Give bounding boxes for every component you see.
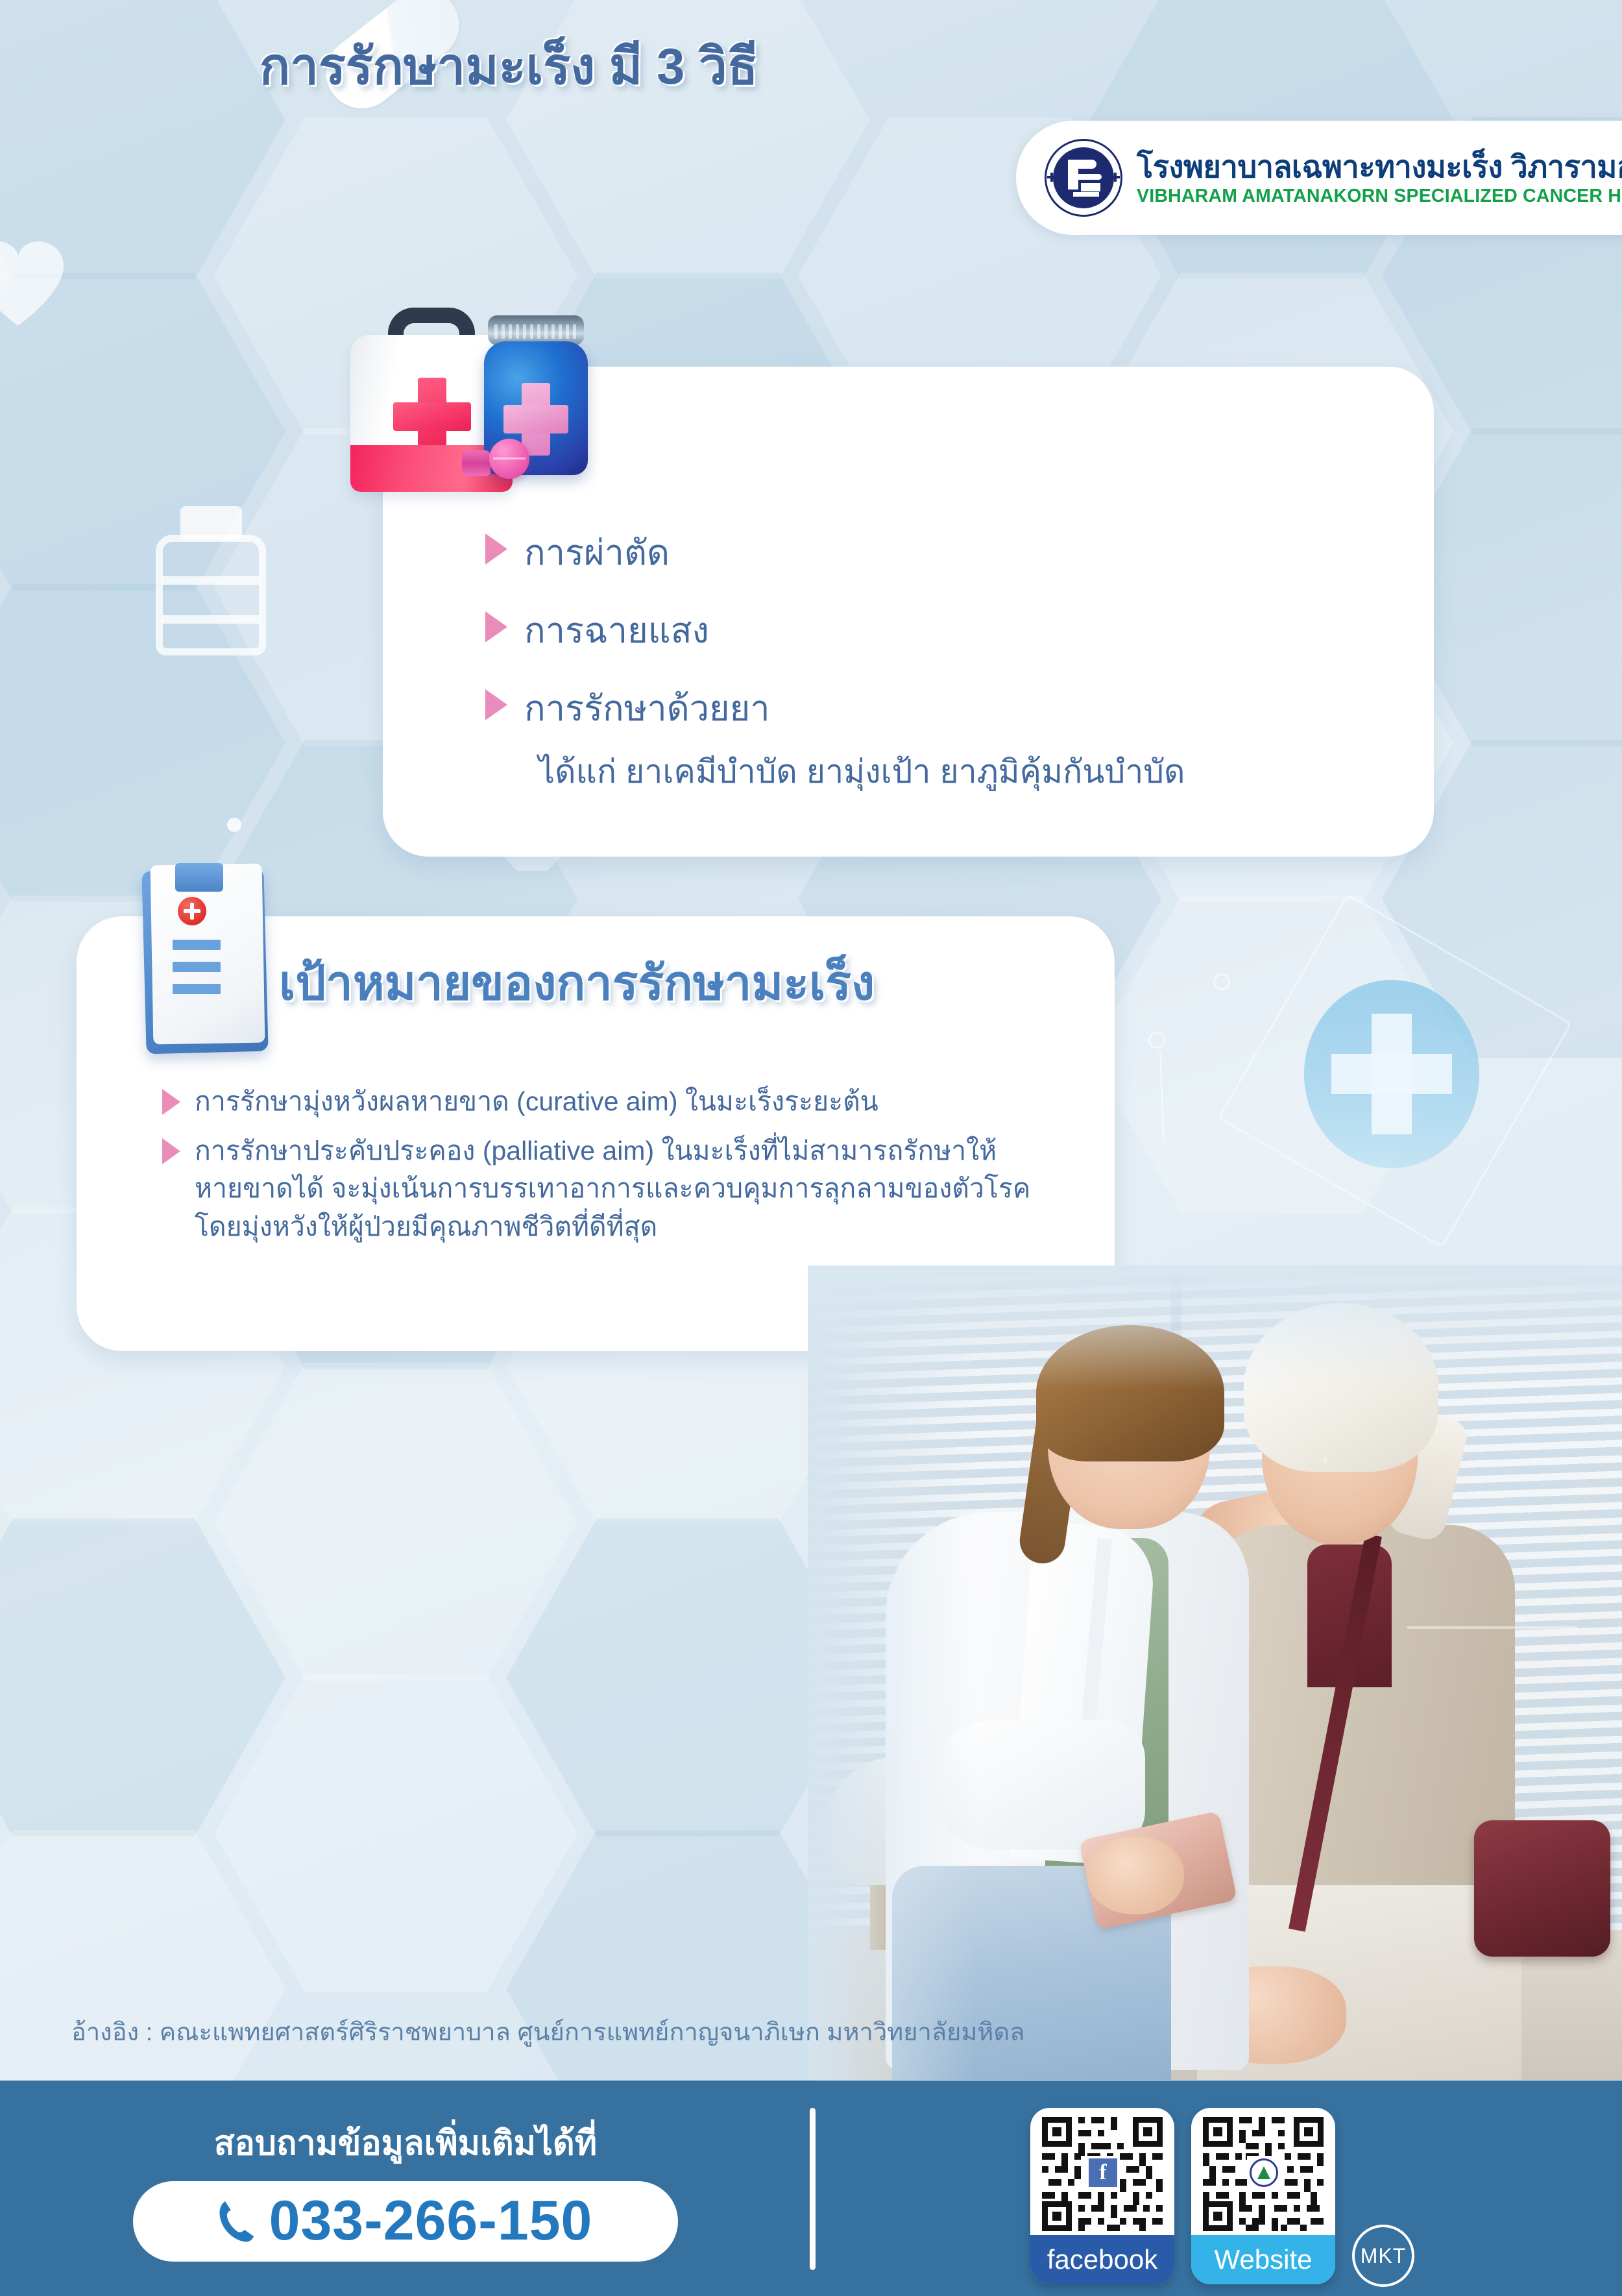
hexagon-shape <box>0 273 285 591</box>
triangle-bullet-icon <box>485 689 507 720</box>
network-ring <box>1148 1032 1165 1049</box>
network-dot <box>227 818 241 832</box>
card2-title: เป้าหมายของการรักษามะเร็ง <box>279 944 875 1021</box>
qr-card-website[interactable]: Website <box>1191 2108 1335 2284</box>
qr-code-image <box>1191 2108 1335 2235</box>
phone-button[interactable]: 033-266-150 <box>133 2181 678 2262</box>
hexagon-shape <box>0 1519 285 1837</box>
list-item: การรักษาด้วยยา <box>485 680 770 736</box>
hospital-triangle-logo-icon <box>1250 2158 1278 2187</box>
list-item: การรักษาประคับประคอง (palliative aim) ใน… <box>162 1132 1083 1245</box>
qr-code-group: f facebook <box>1030 2108 1414 2287</box>
triangle-bullet-icon <box>485 533 507 565</box>
triangle-bullet-icon <box>162 1089 180 1115</box>
network-line <box>1159 1051 1165 1142</box>
hexagon-shape <box>0 584 285 902</box>
phone-number: 033-266-150 <box>269 2189 593 2253</box>
round-pill-icon <box>489 439 529 479</box>
footer-divider <box>810 2108 816 2270</box>
hexagon-shape <box>214 1674 577 1992</box>
hexagon-shape <box>1090 896 1453 1214</box>
poster-root: โรงพยาบาลเฉพาะทางมะเร็ง วิภารามอมตะนคร V… <box>0 0 1622 2296</box>
list-item: การรักษามุ่งหวังผลหายขาด (curative aim) … <box>162 1082 1083 1120</box>
hexagon-outline <box>1218 894 1572 1248</box>
phone-handset-icon <box>219 2200 255 2243</box>
heart-icon <box>0 241 64 326</box>
bullet-label: การรักษาด้วยยา <box>524 680 770 736</box>
qr-code-image: f <box>1030 2108 1174 2235</box>
medical-clipboard-icon <box>144 863 278 1058</box>
hexagon-shape <box>214 1363 577 1681</box>
mkt-badge: MKT <box>1352 2225 1414 2287</box>
list-item: การผ่าตัด <box>485 524 670 580</box>
goal-label: การรักษามุ่งหวังผลหายขาด (curative aim) … <box>195 1082 878 1120</box>
goal-label: การรักษาประคับประคอง (palliative aim) ใน… <box>195 1132 1083 1245</box>
red-cross-circle-icon <box>178 897 206 925</box>
hospital-name-english: VIBHARAM AMATANAKORN SPECIALIZED CANCER … <box>1137 185 1622 207</box>
triangle-bullet-icon <box>162 1138 180 1164</box>
triangle-bullet-icon <box>485 611 507 642</box>
contact-prompt: สอบถามข้อมูลเพิ่มเติมได้ที่ <box>214 2116 597 2169</box>
facebook-f-icon: f <box>1089 2158 1117 2187</box>
radiotherapy-machine-logo-icon <box>1045 139 1122 217</box>
doctor-patient-photo <box>808 1265 1622 2080</box>
handbag <box>1474 1820 1610 1957</box>
qr-label: Website <box>1191 2235 1335 2284</box>
hospital-logo-header: โรงพยาบาลเฉพาะทางมะเร็ง วิภารามอมตะนคร V… <box>1016 121 1622 235</box>
reference-citation: อ้างอิง : คณะแพทยศาสตร์ศิริราชพยาบาล ศูน… <box>71 2012 1024 2051</box>
card1-subnote: ได้แก่ ยาเคมีบำบัด ยามุ่งเป้า ยาภูมิคุ้ม… <box>539 746 1185 798</box>
medical-cross-badge-icon <box>1304 980 1479 1168</box>
pill-stack-icon <box>462 450 490 476</box>
network-ring <box>1213 973 1230 990</box>
hospital-name-thai: โรงพยาบาลเฉพาะทางมะเร็ง วิภารามอมตะนคร <box>1137 149 1622 184</box>
qr-label: facebook <box>1030 2235 1174 2284</box>
qr-center-logo: f <box>1086 2156 1120 2190</box>
qr-card-facebook[interactable]: f facebook <box>1030 2108 1174 2284</box>
list-item: การฉายแสง <box>485 602 709 658</box>
qr-center-logo <box>1247 2156 1281 2190</box>
bullet-label: การฉายแสง <box>524 602 709 658</box>
bullet-label: การผ่าตัด <box>524 524 670 580</box>
footer-bar: สอบถามข้อมูลเพิ่มเติมได้ที่ 033-266-150 <box>0 2081 1622 2296</box>
card2-goal-list: การรักษามุ่งหวังผลหายขาด (curative aim) … <box>162 1082 1083 1257</box>
first-aid-kit-icon <box>350 284 629 492</box>
card1-title: การรักษามะเร็ง มี 3 วิธี <box>260 26 758 106</box>
hexagon-shape <box>0 0 285 279</box>
medicine-bottle-icon <box>156 506 266 655</box>
contact-block: สอบถามข้อมูลเพิ่มเติมได้ที่ 033-266-150 <box>0 2081 811 2296</box>
